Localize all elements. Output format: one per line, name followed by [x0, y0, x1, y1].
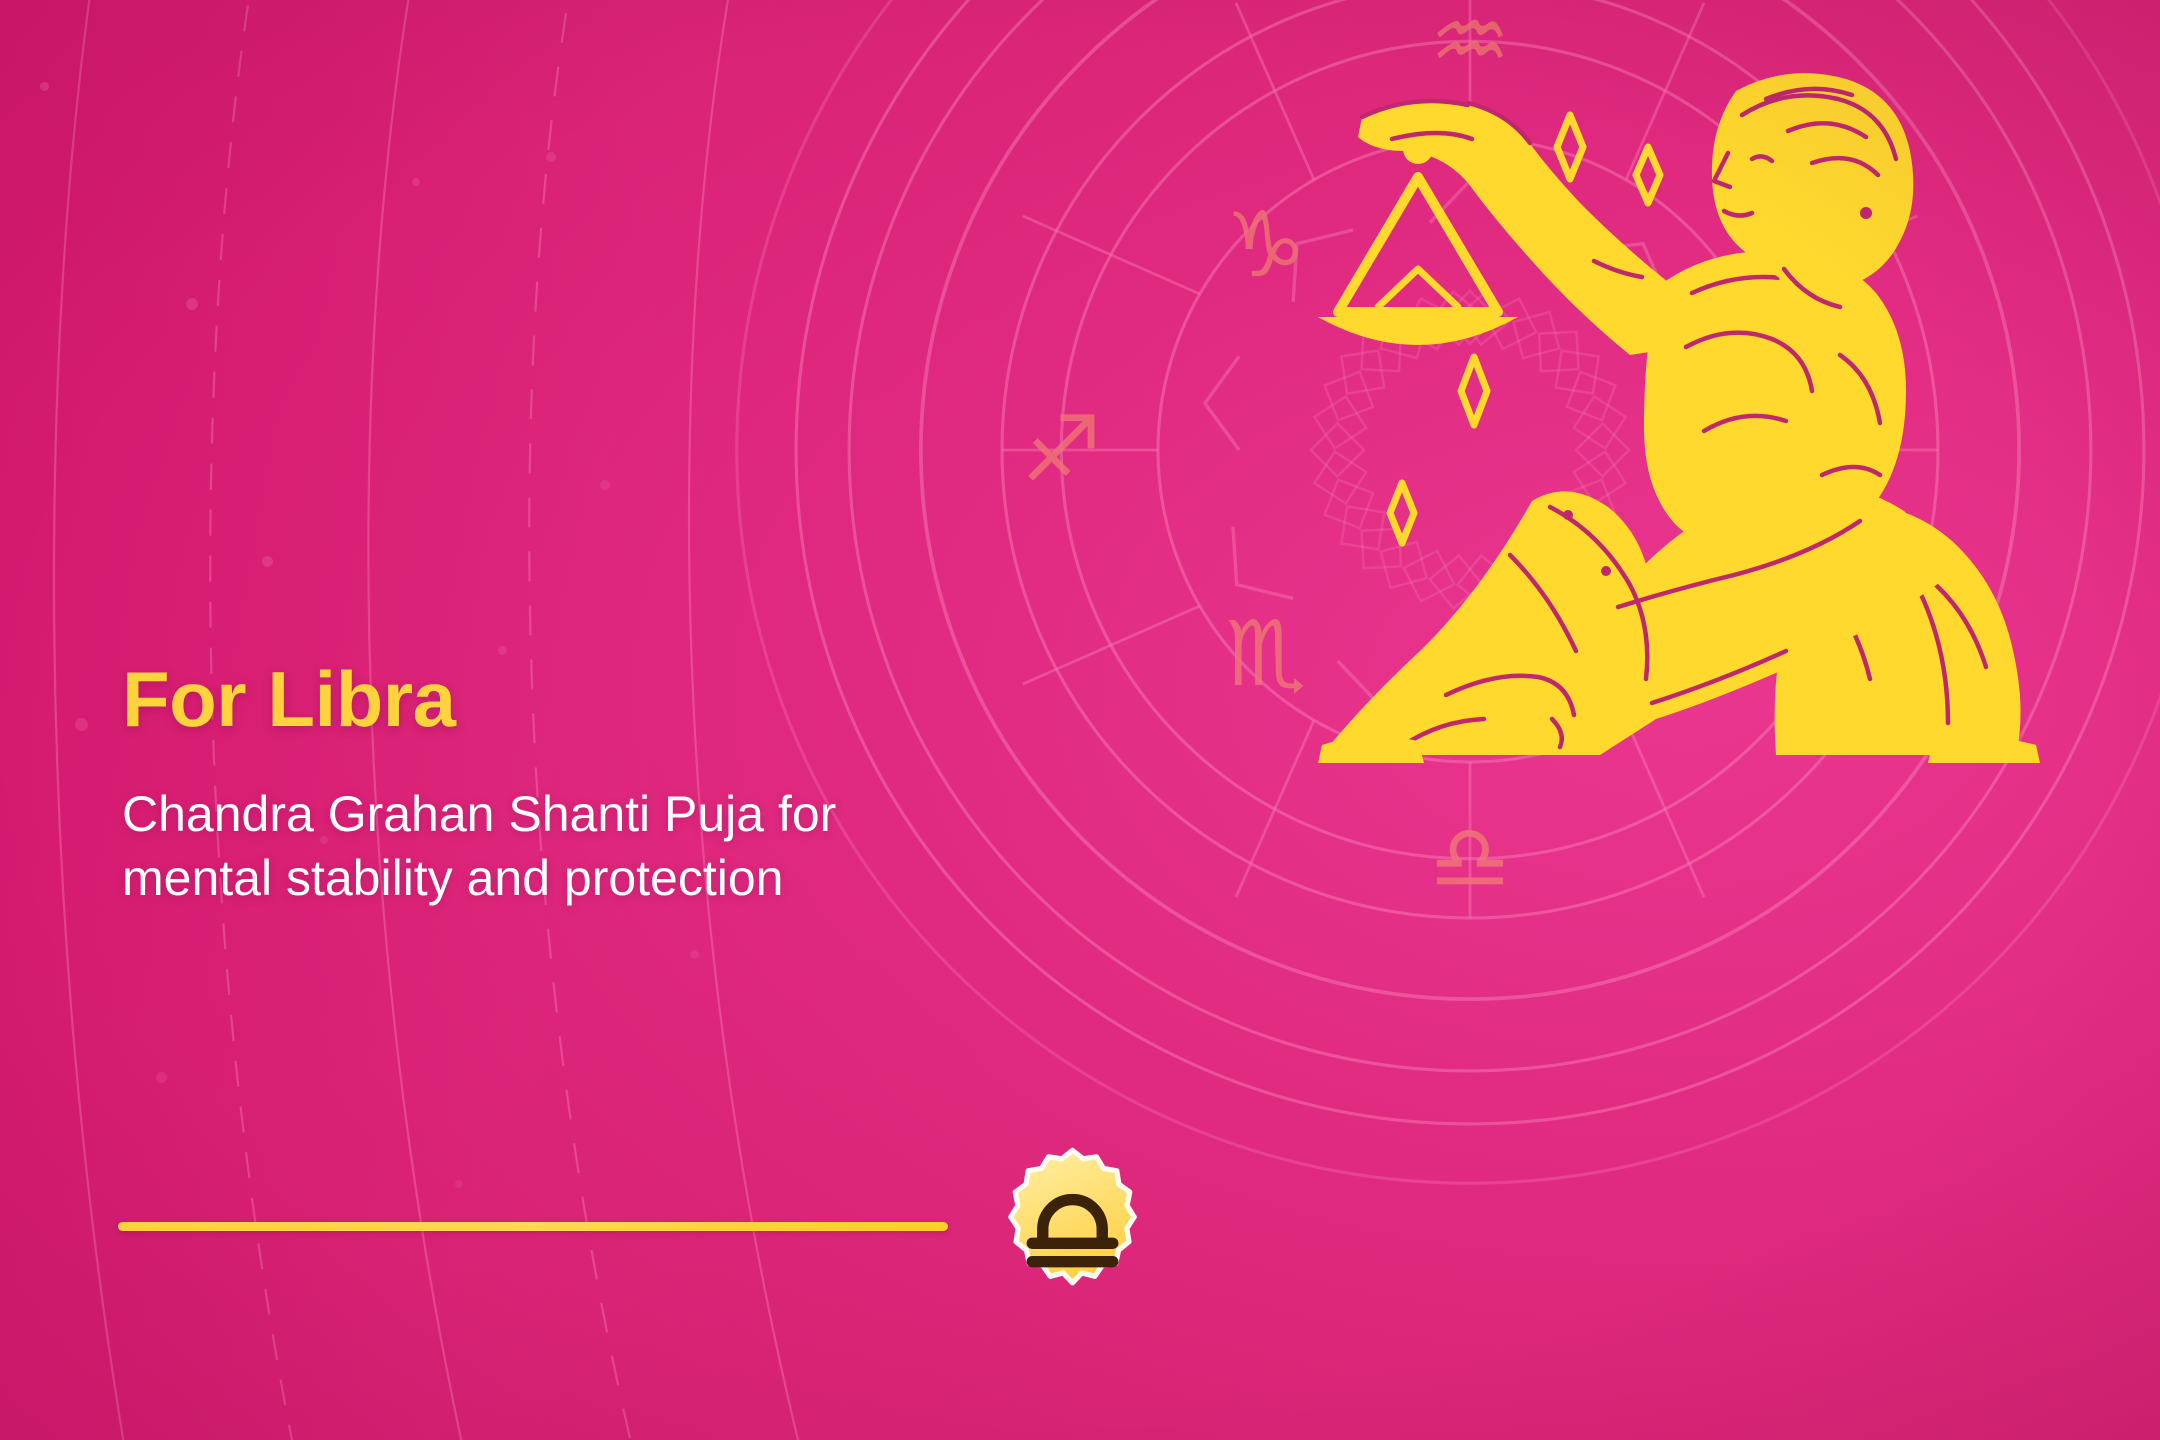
page-title: For Libra [122, 660, 942, 738]
subtitle-text: Chandra Grahan Shanti Puja for mental st… [122, 782, 902, 910]
libra-promo-card: ♒ ♑ ♐ ♏ ♎ ♏ .fill { fill: #FFD92E; } .ln… [0, 0, 2160, 1440]
yellow-rule [118, 1222, 948, 1231]
libra-seal [985, 1140, 1160, 1315]
headline-block: For Libra Chandra Grahan Shanti Puja for… [122, 660, 942, 910]
